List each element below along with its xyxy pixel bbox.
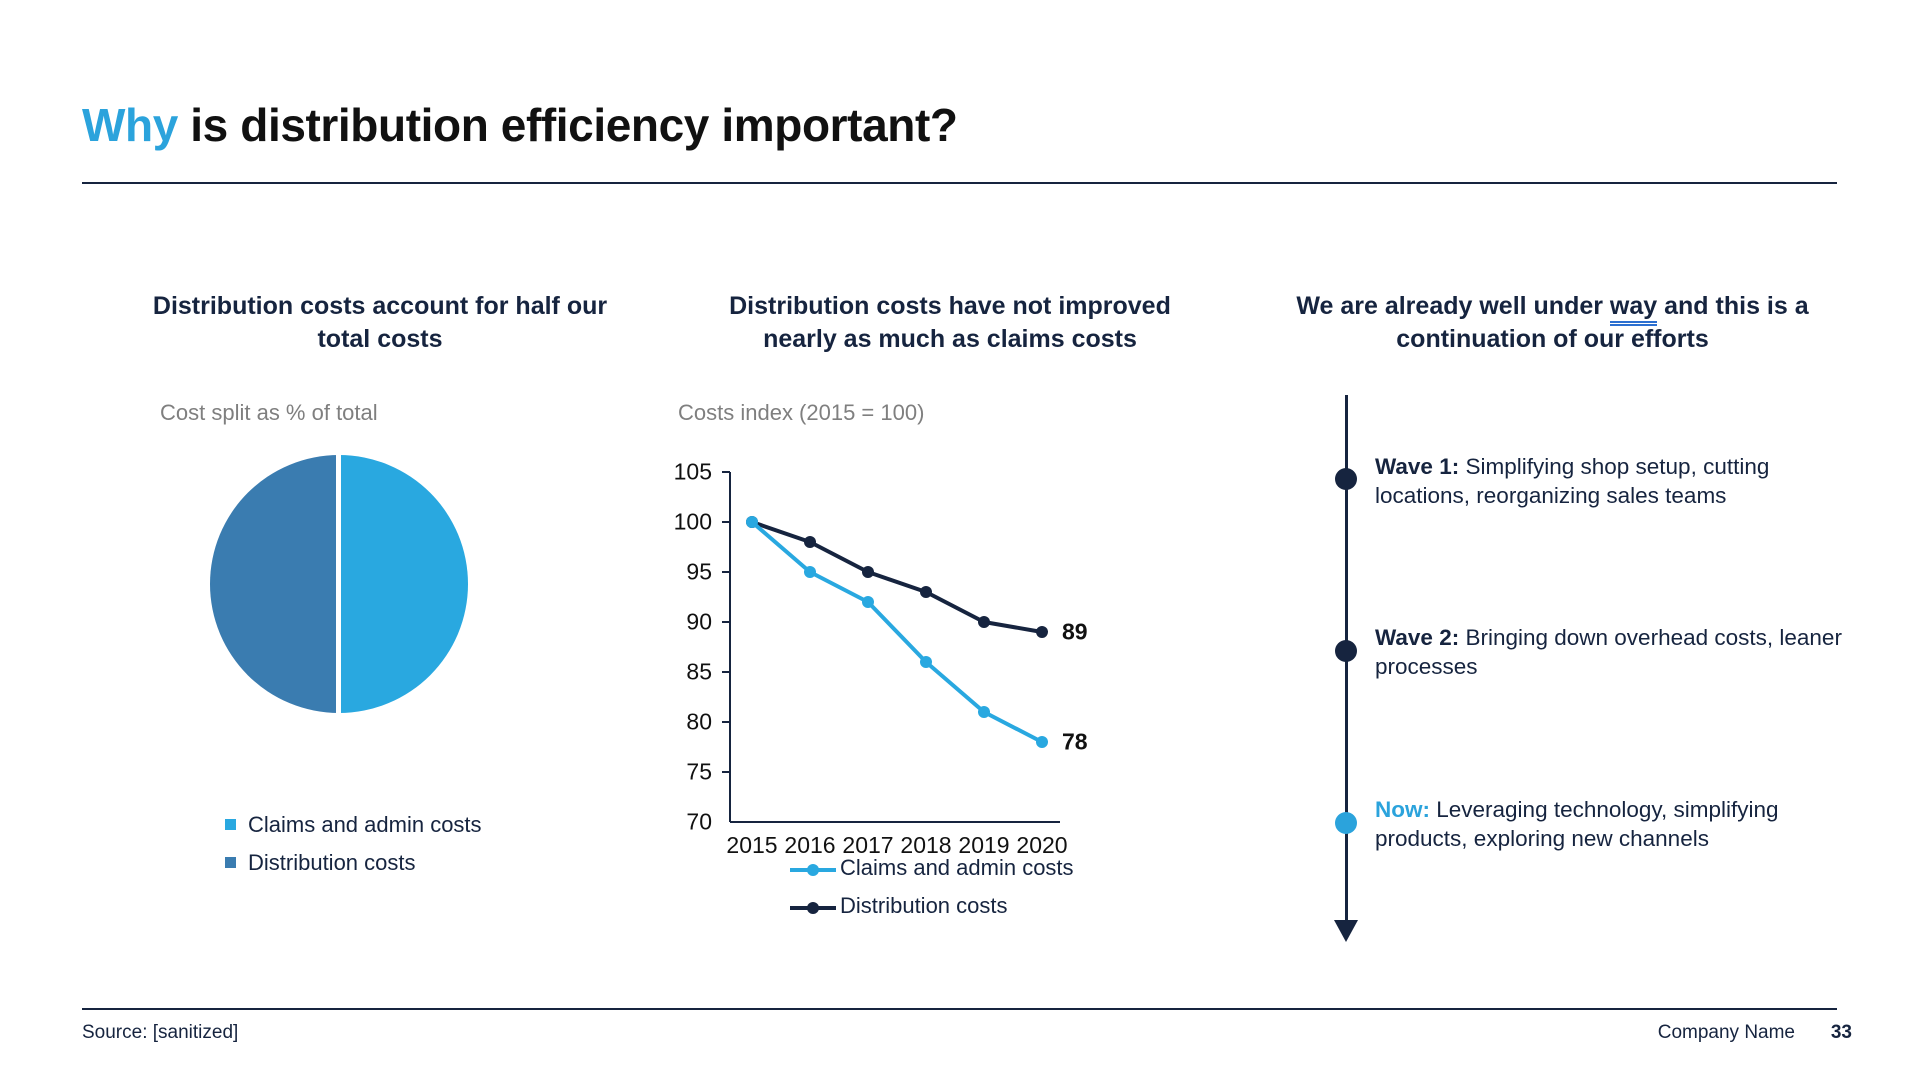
middle-column-header: Distribution costs have not improved nea…: [690, 290, 1210, 356]
end-label-claims: 78: [1062, 729, 1088, 756]
timeline-label-now: Now:: [1375, 797, 1430, 822]
series-claims-and-admin-costs: [746, 516, 1048, 748]
line-chart: 105 100 95 90 85 80 75 70 2015 2016 2017…: [660, 450, 1080, 850]
spellcheck-underlined-word: way: [1610, 292, 1657, 323]
pie-slice-divider: [336, 453, 341, 715]
right-column-header: We are already well under way and this i…: [1265, 290, 1840, 356]
timeline-dot-now: [1335, 812, 1357, 834]
pie-legend-item-distribution: Distribution costs: [225, 850, 416, 876]
legend-swatch-icon: [225, 819, 236, 830]
timeline-desc-now: Leveraging technology, simplifying produ…: [1375, 797, 1779, 851]
timeline-dot-wave-2: [1335, 640, 1357, 662]
legend-swatch-icon: [225, 857, 236, 868]
left-column-header: Distribution costs account for half our …: [140, 290, 620, 356]
x-tick-2015: 2015: [726, 832, 777, 859]
pie-legend-label-claims: Claims and admin costs: [248, 812, 482, 837]
timeline-item-wave-1: Wave 1: Simplifying shop setup, cutting …: [1375, 452, 1845, 511]
timeline-arrow-icon: [1334, 920, 1358, 942]
title-divider: [82, 182, 1837, 184]
pie-slice-claims-and-admin-costs: [339, 455, 468, 713]
end-label-distribution: 89: [1062, 619, 1088, 646]
pie-chart: [210, 455, 468, 713]
title-rest: is distribution efficiency important?: [190, 99, 957, 151]
right-header-part1: We are already well under: [1296, 292, 1610, 320]
timeline-label-wave-1: Wave 1:: [1375, 454, 1459, 479]
pie-slice-distribution-costs: [210, 455, 339, 713]
line-legend-label-distribution: Distribution costs: [840, 893, 1008, 918]
line-chart-plot: [660, 450, 1080, 850]
line-legend-item-distribution: Distribution costs: [790, 893, 1008, 919]
line-legend-label-claims: Claims and admin costs: [840, 855, 1074, 880]
timeline-item-now: Now: Leveraging technology, simplifying …: [1375, 795, 1845, 854]
series-distribution-costs: [746, 516, 1048, 638]
title-keyword: Why: [82, 99, 178, 151]
pie-legend-item-claims: Claims and admin costs: [225, 812, 482, 838]
footer-divider: [82, 1008, 1837, 1010]
pie-data-label-distribution: 50%: [210, 143, 254, 169]
timeline-item-wave-2: Wave 2: Bringing down overhead costs, le…: [1375, 623, 1845, 682]
timeline-dot-wave-1: [1335, 468, 1357, 490]
pie-legend-label-distribution: Distribution costs: [248, 850, 416, 875]
footer-page-number: 33: [1831, 1022, 1852, 1044]
line-legend-item-claims: Claims and admin costs: [790, 855, 1074, 881]
footer-source: Source: [sanitized]: [82, 1022, 238, 1044]
timeline-label-wave-2: Wave 2:: [1375, 625, 1459, 650]
pie-data-label-claims: 50%: [455, 143, 499, 169]
footer-company-name: Company Name: [1658, 1022, 1795, 1044]
line-chart-sublabel: Costs index (2015 = 100): [678, 400, 924, 426]
pie-chart-sublabel: Cost split as % of total: [160, 400, 378, 426]
